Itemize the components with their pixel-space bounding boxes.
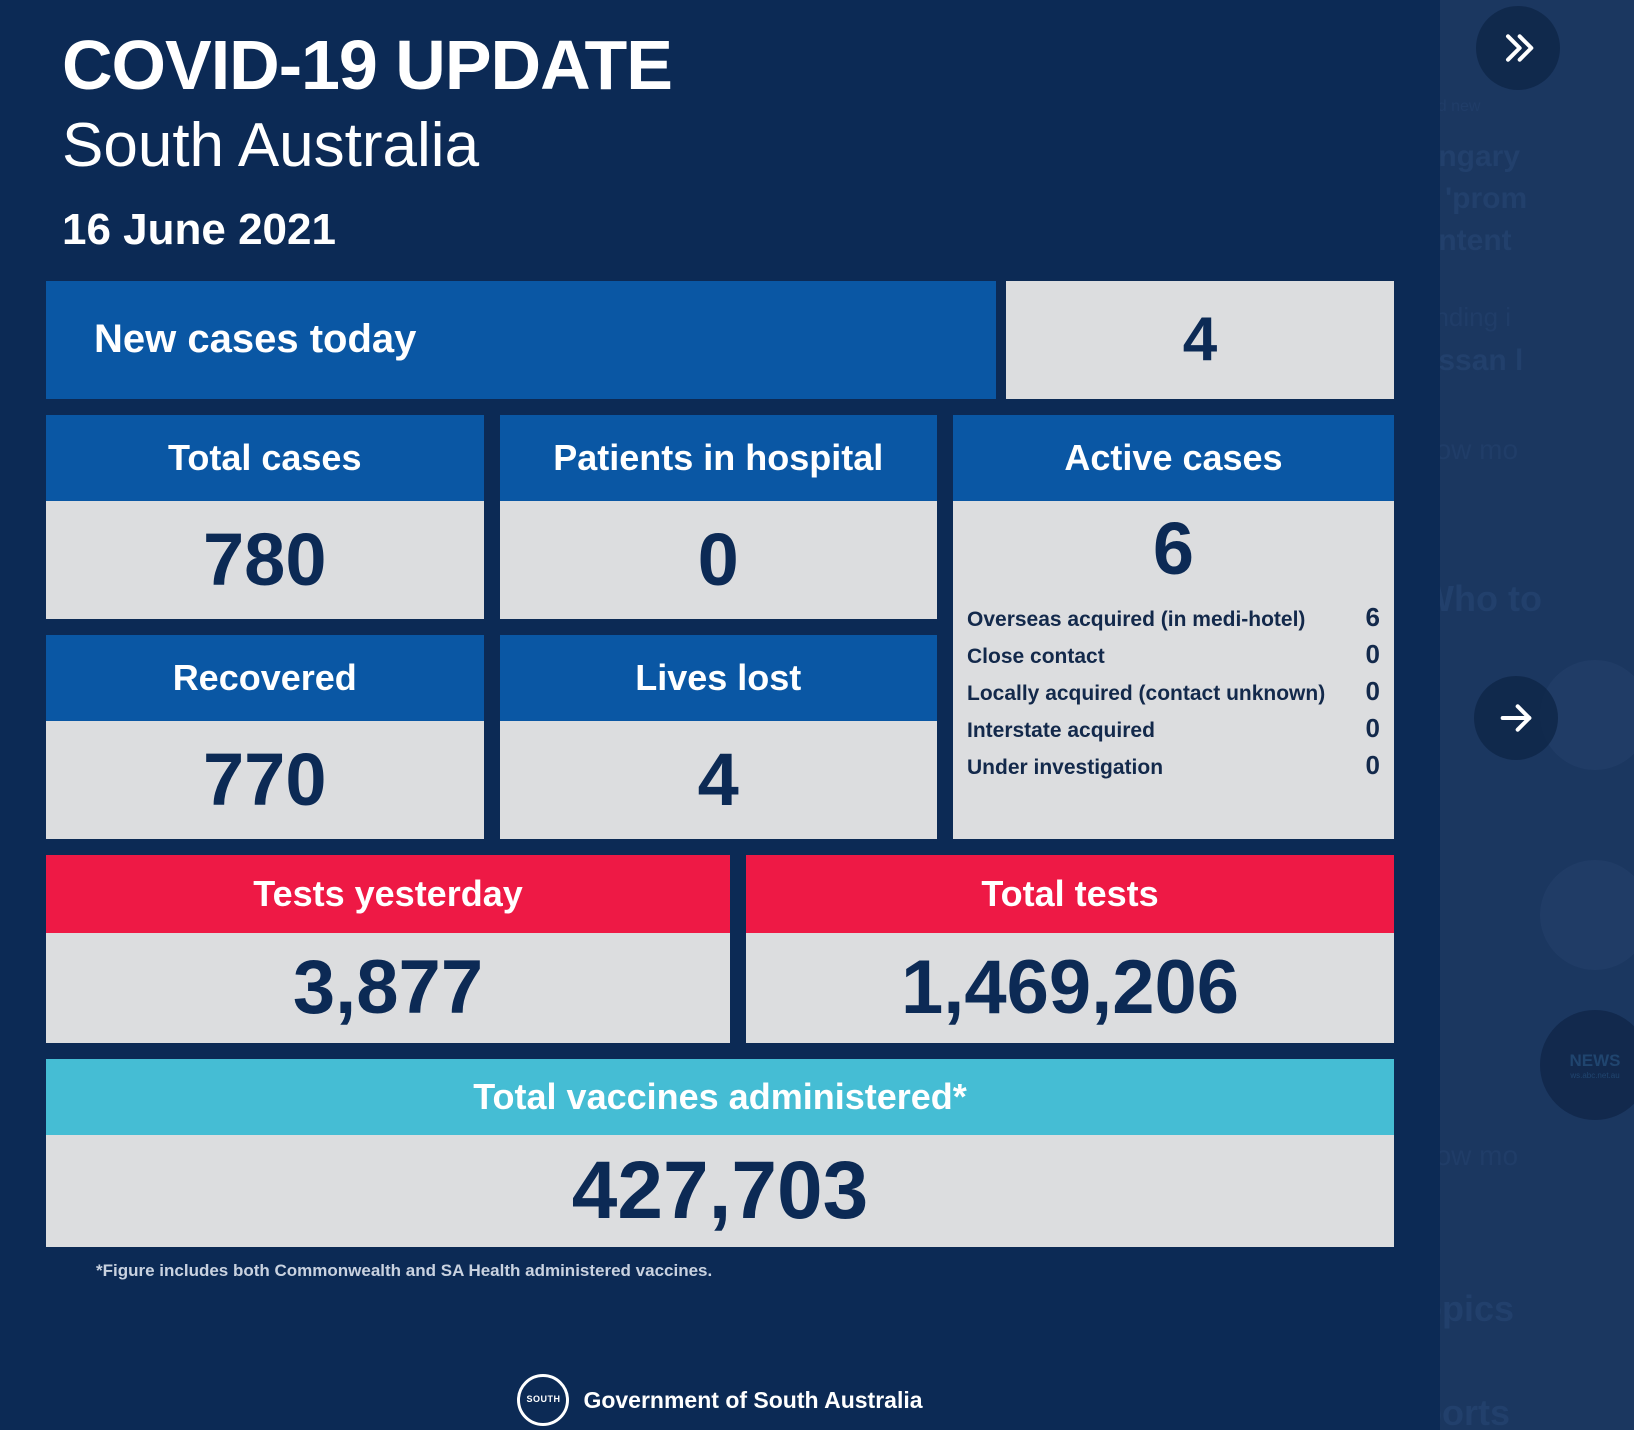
total-cases-value: 780 xyxy=(46,501,484,619)
lives-lost-label: Lives lost xyxy=(500,635,938,721)
background-text-fragment: ussan l xyxy=(1440,344,1523,378)
background-text-fragment: ontent xyxy=(1440,224,1512,258)
breakdown-value: 6 xyxy=(1356,602,1380,633)
background-text-fragment: e 'prom xyxy=(1440,182,1527,216)
new-cases-today-label: New cases today xyxy=(46,281,996,399)
new-cases-today-value: 4 xyxy=(1006,281,1394,399)
stats-row-2: Recovered 770 Lives lost 4 xyxy=(46,635,937,839)
next-image-arrow-button[interactable] xyxy=(1474,676,1558,760)
breakdown-value: 0 xyxy=(1356,676,1380,707)
breakdown-label: Locally acquired (contact unknown) xyxy=(967,682,1325,706)
recovered-card: Recovered 770 xyxy=(46,635,484,839)
total-tests-card: Total tests 1,469,206 xyxy=(746,855,1394,1043)
recovered-value: 770 xyxy=(46,721,484,839)
background-heading-fragment: opics xyxy=(1440,1288,1514,1330)
infographic-header: COVID-19 UPDATE South Australia 16 June … xyxy=(0,0,1440,255)
active-cases-label: Active cases xyxy=(953,415,1394,501)
vaccines-footnote: *Figure includes both Commonwealth and S… xyxy=(46,1247,1394,1281)
new-cases-today-card: New cases today 4 xyxy=(46,281,1394,399)
stats-grid: New cases today 4 Total cases 780 Patien… xyxy=(0,255,1440,1281)
background-avatar xyxy=(1540,860,1634,970)
background-text-fragment: orld new xyxy=(1440,98,1480,116)
active-cases-value: 6 xyxy=(967,501,1380,596)
total-vaccines-value: 427,703 xyxy=(46,1135,1394,1247)
breakdown-row: Locally acquired (contact unknown) 0 xyxy=(967,673,1380,710)
government-label: Government of South Australia xyxy=(583,1387,922,1414)
page-subtitle: South Australia xyxy=(62,110,1440,181)
report-date: 16 June 2021 xyxy=(62,205,1440,255)
total-tests-label: Total tests xyxy=(746,855,1394,933)
tests-yesterday-label: Tests yesterday xyxy=(46,855,730,933)
stats-row-1: Total cases 780 Patients in hospital 0 xyxy=(46,415,937,619)
patients-in-hospital-label: Patients in hospital xyxy=(500,415,938,501)
total-vaccines-label: Total vaccines administered* xyxy=(46,1059,1394,1135)
active-cases-breakdown: Overseas acquired (in medi-hotel) 6 Clos… xyxy=(967,599,1380,784)
breakdown-value: 0 xyxy=(1356,750,1380,781)
main-stats-region: Total cases 780 Patients in hospital 0 R… xyxy=(46,415,1394,839)
breakdown-row: Interstate acquired 0 xyxy=(967,710,1380,747)
background-heading-fragment: Who to xyxy=(1440,578,1542,620)
tests-yesterday-value: 3,877 xyxy=(46,933,730,1043)
next-gallery-button[interactable] xyxy=(1476,6,1560,90)
breakdown-label: Close contact xyxy=(967,645,1105,669)
breakdown-label: Overseas acquired (in medi-hotel) xyxy=(967,608,1305,632)
background-text-fragment: ungary xyxy=(1440,140,1520,174)
active-cases-body: 6 Overseas acquired (in medi-hotel) 6 Cl… xyxy=(953,501,1394,839)
patients-in-hospital-card: Patients in hospital 0 xyxy=(500,415,938,619)
breakdown-label: Interstate acquired xyxy=(967,719,1155,743)
covid-update-infographic: COVID-19 UPDATE South Australia 16 June … xyxy=(0,0,1440,1430)
background-text-fragment: ending i xyxy=(1440,302,1511,333)
lives-lost-value: 4 xyxy=(500,721,938,839)
abc-news-sublabel: ws.abc.net.au xyxy=(1570,1071,1619,1080)
recovered-label: Recovered xyxy=(46,635,484,721)
breakdown-row: Close contact 0 xyxy=(967,636,1380,673)
background-avatar-abc-news: NEWS ws.abc.net.au xyxy=(1540,1010,1634,1120)
breakdown-row: Under investigation 0 xyxy=(967,747,1380,784)
abc-news-label: NEWS xyxy=(1570,1051,1621,1071)
total-cases-card: Total cases 780 xyxy=(46,415,484,619)
background-text-fragment: how mo xyxy=(1440,434,1518,466)
breakdown-value: 0 xyxy=(1356,713,1380,744)
patients-in-hospital-value: 0 xyxy=(500,501,938,619)
chevron-double-right-icon xyxy=(1498,28,1538,68)
south-australia-crest-icon: SOUTH xyxy=(517,1374,569,1426)
crest-text: SOUTH xyxy=(526,1395,560,1404)
total-vaccines-card: Total vaccines administered* 427,703 xyxy=(46,1059,1394,1247)
total-cases-label: Total cases xyxy=(46,415,484,501)
government-branding: SOUTH Government of South Australia xyxy=(0,1374,1440,1426)
breakdown-row: Overseas acquired (in medi-hotel) 6 xyxy=(967,599,1380,636)
lives-lost-card: Lives lost 4 xyxy=(500,635,938,839)
total-tests-value: 1,469,206 xyxy=(746,933,1394,1043)
breakdown-value: 0 xyxy=(1356,639,1380,670)
background-text-fragment: how mo xyxy=(1440,1140,1518,1172)
vaccines-row: Total vaccines administered* 427,703 xyxy=(46,1059,1394,1247)
tests-row: Tests yesterday 3,877 Total tests 1,469,… xyxy=(46,855,1394,1043)
arrow-right-icon xyxy=(1496,698,1536,738)
active-cases-card: Active cases 6 Overseas acquired (in med… xyxy=(953,415,1394,839)
breakdown-label: Under investigation xyxy=(967,756,1163,780)
page-title: COVID-19 UPDATE xyxy=(62,28,1440,104)
left-stats-column: Total cases 780 Patients in hospital 0 R… xyxy=(46,415,937,839)
tests-yesterday-card: Tests yesterday 3,877 xyxy=(46,855,730,1043)
background-heading-fragment: ports xyxy=(1440,1392,1510,1430)
